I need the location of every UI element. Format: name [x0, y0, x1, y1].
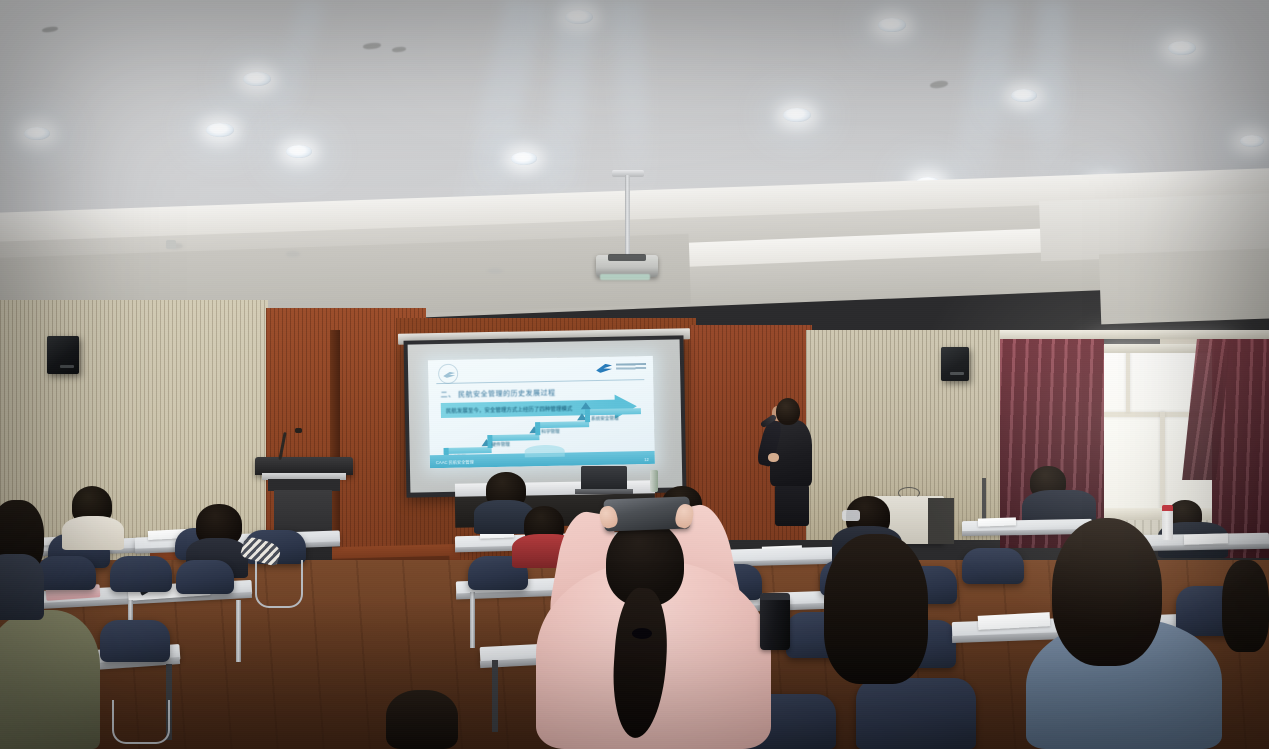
laptop-keyboard[interactable]	[575, 489, 633, 494]
slide-footer-wave	[525, 445, 565, 458]
ceiling-step-right	[1099, 246, 1269, 325]
student-head	[1222, 560, 1269, 652]
ceiling-sprinkler	[166, 240, 176, 249]
ceiling-downlight	[286, 145, 312, 158]
ceiling-downlight	[24, 127, 50, 140]
chair[interactable]	[962, 548, 1024, 584]
slide-stair-tread	[487, 434, 539, 441]
chair-sled-base	[112, 700, 170, 744]
desk-leg	[236, 600, 241, 662]
ceiling-downlight	[878, 18, 906, 32]
water-bottle-front	[650, 470, 658, 492]
desk-leg	[492, 660, 498, 732]
tumbler-lid	[760, 593, 790, 600]
presenter-hand	[768, 453, 779, 462]
presenter-head	[776, 398, 800, 425]
slide-stair-arrow-icon	[581, 402, 591, 409]
ceiling-fitting	[286, 251, 300, 257]
chair[interactable]	[110, 556, 172, 592]
ceiling-downlight	[565, 10, 593, 24]
projection-screen-surface: 二、 民航安全管理的历史发展过程 民航发展至今，安全管理方式上经历了四种管理模式…	[408, 339, 683, 492]
projector-top-detail	[608, 254, 646, 261]
classroom-photo-scene: 二、 民航安全管理的历史发展过程 民航发展至今，安全管理方式上经历了四种管理模式…	[0, 0, 1269, 749]
slide-stair-riser	[585, 409, 590, 422]
slide-content: 二、 民航安全管理的历史发展过程 民航发展至今，安全管理方式上经历了四种管理模式…	[428, 356, 655, 468]
laptop-screen[interactable]	[581, 466, 627, 491]
student-head	[386, 690, 458, 749]
face-mask	[842, 510, 860, 521]
slide-stair-label: 系统安全管理	[591, 416, 619, 423]
ceiling-downlight	[206, 123, 234, 137]
projector-lens-glow	[600, 274, 650, 280]
ceiling-fitting	[487, 268, 503, 274]
wall-speaker-right	[941, 347, 969, 381]
slide-stair-tread	[585, 408, 641, 415]
desk-leg	[470, 592, 475, 648]
ceiling-downlight	[783, 108, 811, 122]
chair[interactable]	[176, 560, 234, 594]
ceiling-downlight	[1240, 135, 1264, 147]
paper-sheet	[978, 517, 1016, 526]
slide-stair-label: 科学管理	[541, 429, 560, 435]
airline-logo-text	[616, 363, 646, 374]
ceiling-downlight	[511, 152, 537, 165]
water-bottle	[1162, 508, 1173, 540]
slide-stair-label: 硬件管理	[491, 442, 510, 448]
wall-speaker-left	[47, 336, 79, 374]
ceiling-downlight	[1168, 41, 1196, 55]
slide-footer-text: CAAC 民航安全管理	[436, 459, 474, 466]
window-mullion-vertical	[1160, 412, 1165, 510]
projection-screen[interactable]: 二、 民航安全管理的历史发展过程 民航发展至今，安全管理方式上经历了四种管理模式…	[404, 335, 687, 497]
slide-stair-tread	[444, 447, 492, 454]
equipment-cabinet-side	[928, 498, 954, 544]
slide-page-number: 12	[644, 457, 649, 462]
paper-sheet	[1184, 533, 1228, 545]
insulated-tumbler	[760, 596, 790, 650]
airline-logo-icon	[596, 364, 612, 373]
student-shoulder	[0, 554, 44, 620]
coiled-cable	[898, 487, 920, 499]
airline-crane-watermark-icon	[443, 372, 455, 378]
curtain-rail	[1000, 330, 1269, 339]
chair[interactable]	[856, 678, 976, 749]
student-white-sweater	[62, 516, 124, 550]
slide-header-rule	[436, 379, 644, 384]
student-long-hair	[824, 534, 928, 684]
slide-stair-tread	[535, 421, 589, 428]
projector-mount-rod	[625, 175, 630, 257]
water-bottle-cap	[1162, 505, 1173, 511]
student-olive-coat	[0, 610, 100, 749]
slide-stair-riser	[535, 422, 540, 435]
chair-sled-base	[255, 560, 303, 608]
podium-microphone-head	[295, 428, 302, 433]
chair[interactable]	[36, 556, 96, 590]
ceiling-downlight	[243, 72, 271, 86]
window-mullion-vertical	[1126, 352, 1130, 412]
hair-tie	[632, 628, 652, 639]
slide-title: 二、 民航安全管理的历史发展过程	[440, 388, 555, 400]
slide-watermark-circle	[438, 364, 458, 384]
chair[interactable]	[100, 620, 170, 662]
denim-student-hair	[1052, 518, 1162, 666]
ceiling-downlight	[1011, 89, 1037, 102]
presenter-legs	[775, 482, 809, 526]
